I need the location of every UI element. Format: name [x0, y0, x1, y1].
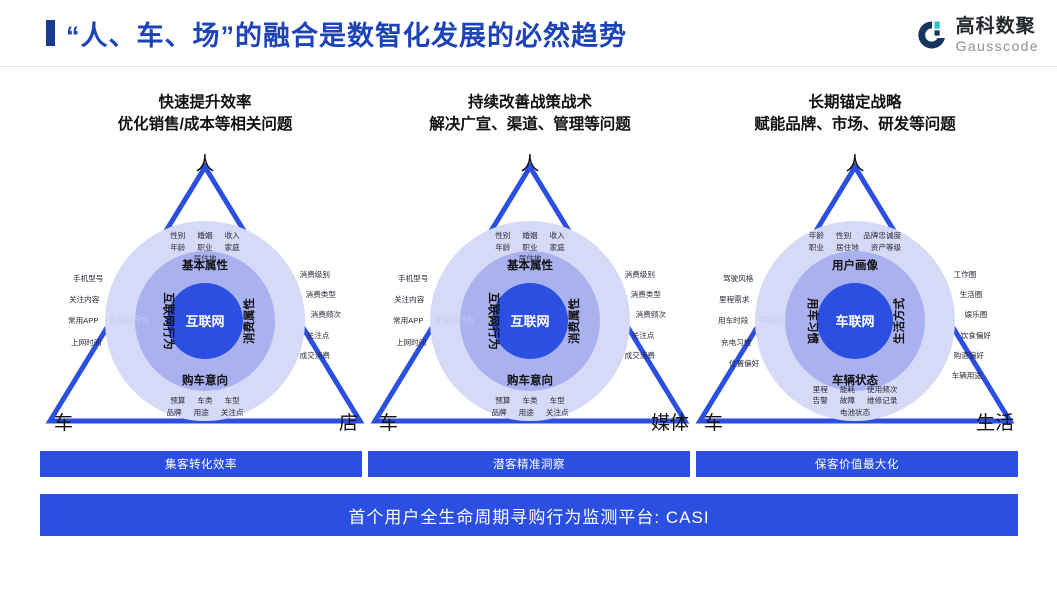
detail-token: 收入 — [550, 230, 565, 242]
platform-banner: 首个用户全生命周期寻购行为监测平台: CASI — [40, 494, 1018, 536]
detail-token: 充电习惯 — [721, 337, 751, 349]
detail-token: 里程需求 — [719, 294, 749, 306]
mid-label-right-1: 消费属性 — [566, 298, 582, 344]
detail-left-1: 手机型号关注内容常用APP上网时间 — [396, 273, 428, 349]
brand-name-cn: 高科数聚 — [956, 17, 1039, 36]
detail-token: 用途 — [194, 407, 209, 419]
detail-token: 车型 — [225, 395, 240, 407]
detail-token: 能耗 — [840, 384, 855, 396]
vertex-bottom-left-1: 车 — [379, 414, 398, 433]
summary-bar-2: 保客价值最大化 — [696, 451, 1018, 477]
mid-label-left-1: 互联网行为 — [486, 292, 502, 350]
detail-token: 资产等级 — [871, 242, 901, 254]
detail-token: 消费级别 — [625, 269, 655, 281]
detail-row: 预算车类车型 — [485, 395, 574, 407]
detail-token: 婚姻 — [197, 230, 212, 242]
detail-token: 年龄 — [170, 242, 185, 254]
detail-token: 消费类型 — [631, 289, 661, 301]
column-2-heading-line1: 长期锚定战略 — [690, 92, 1020, 114]
detail-token: 消费类型 — [306, 289, 336, 301]
detail-token: 性别 — [495, 230, 510, 242]
vertex-bottom-left-2: 车 — [704, 414, 723, 433]
detail-token: 车类 — [197, 395, 212, 407]
detail-token: 维修记录 — [867, 395, 897, 407]
gausscode-mark-icon — [915, 18, 949, 52]
detail-token: 关注内容 — [69, 294, 99, 306]
detail-row: 职业居住地资产等级 — [803, 242, 907, 254]
slide-root: “人、车、场”的融合是数智化发展的必然趋势 高科数聚 Gausscode 快速提… — [0, 0, 1057, 589]
detail-token: 用途 — [519, 407, 534, 419]
ring-core-1: 互联网 — [492, 283, 568, 359]
detail-token: 里程 — [813, 384, 828, 396]
detail-token: 关注点 — [632, 330, 655, 342]
detail-token: 使用频次 — [867, 384, 897, 396]
detail-bottom-2: 里程能耗使用频次告警故障维修记录电池状态 — [807, 384, 904, 419]
detail-right-1: 消费级别消费类型消费频次关注点成交消费 — [627, 269, 666, 362]
mid-label-bottom-0: 购车意向 — [182, 372, 228, 388]
detail-row: 年龄职业家庭 — [164, 242, 246, 254]
detail-row: 年龄性别品牌忠诚度 — [803, 230, 907, 242]
detail-row: 预算车类车型 — [160, 395, 249, 407]
detail-row: 居住地 — [164, 253, 246, 265]
detail-token: 职业 — [809, 242, 824, 254]
detail-token: 成交消费 — [300, 350, 330, 362]
ring-diagram-2: 车联网 车联网 用户画像 车辆状态 用车习惯 生活方式 年龄性别品牌忠诚度职业居… — [755, 221, 955, 421]
detail-left-2: 驾驶风格里程需求用车时段充电习惯位置偏好 — [721, 273, 759, 370]
core-label-0: 互联网 — [185, 311, 224, 330]
detail-token: 居住地 — [519, 253, 542, 265]
detail-token: 年龄 — [809, 230, 824, 242]
detail-bottom-0: 预算车类车型品牌用途关注点 — [160, 395, 249, 419]
detail-row: 告警故障维修记录 — [807, 395, 904, 407]
ghost-watermark-0: 互联网行为 — [109, 315, 149, 326]
slide-header: “人、车、场”的融合是数智化发展的必然趋势 高科数聚 Gausscode — [0, 0, 1057, 66]
column-0-heading-line2: 优化销售/成本等相关问题 — [40, 114, 370, 136]
detail-top-0: 性别婚姻收入年龄职业家庭居住地 — [164, 230, 246, 265]
detail-bottom-1: 预算车类车型品牌用途关注点 — [485, 395, 574, 419]
vertex-bottom-left-0: 车 — [54, 414, 73, 433]
detail-token: 常用APP — [68, 315, 98, 327]
detail-token: 娱乐圈 — [965, 309, 988, 321]
brand-logo: 高科数聚 Gausscode — [915, 14, 1039, 56]
detail-token: 购酒偏好 — [954, 350, 984, 362]
detail-token: 预算 — [170, 395, 185, 407]
vertex-bottom-right-1: 媒体 — [651, 414, 689, 433]
detail-token: 故障 — [840, 395, 855, 407]
detail-token: 收入 — [225, 230, 240, 242]
mid-label-top-2: 用户画像 — [832, 257, 878, 273]
detail-token: 关注点 — [307, 330, 330, 342]
detail-token: 车型 — [550, 395, 565, 407]
detail-token: 手机型号 — [398, 273, 428, 285]
core-label-1: 互联网 — [510, 311, 549, 330]
detail-token: 电池状态 — [840, 407, 870, 419]
ring-diagram-0: 互联网 互联网行为 基本属性 购车意向 互联网行为 消费属性 性别婚姻收入年龄职… — [105, 221, 305, 421]
detail-token: 品牌忠诚度 — [863, 230, 901, 242]
detail-token: 职业 — [197, 242, 212, 254]
column-0-heading: 快速提升效率 优化销售/成本等相关问题 — [40, 92, 370, 137]
column-0-triangle-diagram: 人 车 店 互联网 互联网行为 基本属性 购车意向 互联网行为 消费属性 性别婚… — [40, 149, 370, 439]
detail-token: 品牌 — [491, 407, 506, 419]
detail-token: 关注内容 — [394, 294, 424, 306]
detail-token: 居住地 — [836, 242, 859, 254]
detail-row: 品牌用途关注点 — [160, 407, 249, 419]
detail-token: 成交消费 — [625, 350, 655, 362]
detail-token: 消费频次 — [311, 309, 341, 321]
column-2-heading-line2: 赋能品牌、市场、研发等问题 — [690, 114, 1020, 136]
ring-core-2: 车联网 — [817, 283, 893, 359]
detail-token: 告警 — [813, 395, 828, 407]
detail-right-0: 消费级别消费类型消费频次关注点成交消费 — [302, 269, 341, 362]
ghost-watermark-1: 互联网行为 — [434, 315, 474, 326]
detail-token: 婚姻 — [522, 230, 537, 242]
column-1-triangle-diagram: 人 车 媒体 互联网 互联网行为 基本属性 购车意向 互联网行为 消费属性 性别… — [365, 149, 695, 439]
detail-token: 上网时间 — [396, 337, 426, 349]
ring-diagram-1: 互联网 互联网行为 基本属性 购车意向 互联网行为 消费属性 性别婚姻收入年龄职… — [430, 221, 630, 421]
detail-token: 手机型号 — [73, 273, 103, 285]
mid-label-bottom-1: 购车意向 — [507, 372, 553, 388]
column-2: 长期锚定战略 赋能品牌、市场、研发等问题 人 车 生活 车联网 车联网 用户画像… — [690, 92, 1020, 439]
page-title: “人、车、场”的融合是数智化发展的必然趋势 — [66, 14, 627, 53]
detail-token: 居住地 — [194, 253, 217, 265]
detail-row: 性别婚姻收入 — [164, 230, 246, 242]
detail-left-0: 手机型号关注内容常用APP上网时间 — [71, 273, 103, 349]
ring-core-0: 互联网 — [167, 283, 243, 359]
summary-bar-0: 集客转化效率 — [40, 451, 362, 477]
mid-label-right-0: 消费属性 — [241, 298, 257, 344]
vertex-top-0: 人 — [195, 155, 214, 174]
detail-row: 里程能耗使用频次 — [807, 384, 904, 396]
detail-token: 职业 — [522, 242, 537, 254]
detail-row: 年龄职业家庭 — [489, 242, 571, 254]
vertex-top-2: 人 — [845, 155, 864, 174]
core-label-2: 车联网 — [835, 311, 874, 330]
column-0: 快速提升效率 优化销售/成本等相关问题 人 车 店 互联网 互联网行为 基本属性… — [40, 92, 370, 439]
detail-token: 用车时段 — [718, 315, 748, 327]
detail-token: 年龄 — [495, 242, 510, 254]
summary-bar-1: 潜客精准洞察 — [368, 451, 690, 477]
column-0-heading-line1: 快速提升效率 — [40, 92, 370, 114]
detail-token: 位置偏好 — [729, 358, 759, 370]
title-bullet-icon — [46, 20, 55, 46]
detail-row: 居住地 — [489, 253, 571, 265]
detail-right-2: 工作圈生活圈娱乐圈饮食偏好购酒偏好车辆用途 — [956, 269, 991, 382]
vertex-bottom-right-2: 生活 — [976, 414, 1014, 433]
column-1-heading-line2: 解决广宣、渠道、管理等问题 — [365, 114, 695, 136]
column-2-triangle-diagram: 人 车 生活 车联网 车联网 用户画像 车辆状态 用车习惯 生活方式 年龄性别品… — [690, 149, 1020, 439]
column-2-heading: 长期锚定战略 赋能品牌、市场、研发等问题 — [690, 92, 1020, 137]
column-1-heading-line1: 持续改善战策战术 — [365, 92, 695, 114]
header-divider — [0, 66, 1057, 67]
detail-token: 上网时间 — [71, 337, 101, 349]
detail-token: 生活圈 — [960, 289, 983, 301]
detail-token: 驾驶风格 — [723, 273, 753, 285]
vertex-top-1: 人 — [520, 155, 539, 174]
column-1-heading: 持续改善战策战术 解决广宣、渠道、管理等问题 — [365, 92, 695, 137]
mid-label-left-0: 互联网行为 — [161, 292, 177, 350]
column-1: 持续改善战策战术 解决广宣、渠道、管理等问题 人 车 媒体 互联网 互联网行为 … — [365, 92, 695, 439]
detail-top-2: 年龄性别品牌忠诚度职业居住地资产等级 — [803, 230, 907, 254]
detail-token: 饮食偏好 — [961, 330, 991, 342]
detail-top-1: 性别婚姻收入年龄职业家庭居住地 — [489, 230, 571, 265]
detail-token: 性别 — [170, 230, 185, 242]
detail-token: 工作圈 — [954, 269, 977, 281]
mid-label-right-2: 生活方式 — [891, 298, 907, 344]
detail-token: 消费级别 — [300, 269, 330, 281]
detail-token: 常用APP — [393, 315, 423, 327]
detail-token: 预算 — [495, 395, 510, 407]
brand-name-en: Gausscode — [956, 39, 1039, 53]
detail-token: 车类 — [522, 395, 537, 407]
detail-token: 消费频次 — [636, 309, 666, 321]
detail-token: 家庭 — [225, 242, 240, 254]
detail-row: 电池状态 — [807, 407, 904, 419]
detail-token: 品牌 — [166, 407, 181, 419]
detail-token: 性别 — [836, 230, 851, 242]
detail-token: 车辆用途 — [952, 370, 982, 382]
detail-token: 家庭 — [550, 242, 565, 254]
detail-row: 性别婚姻收入 — [489, 230, 571, 242]
ghost-watermark-2: 车联网 — [759, 315, 783, 326]
detail-row: 品牌用途关注点 — [485, 407, 574, 419]
detail-token: 关注点 — [546, 407, 569, 419]
mid-label-left-2: 用车习惯 — [805, 298, 821, 344]
vertex-bottom-right-0: 店 — [339, 414, 358, 433]
detail-token: 关注点 — [221, 407, 244, 419]
